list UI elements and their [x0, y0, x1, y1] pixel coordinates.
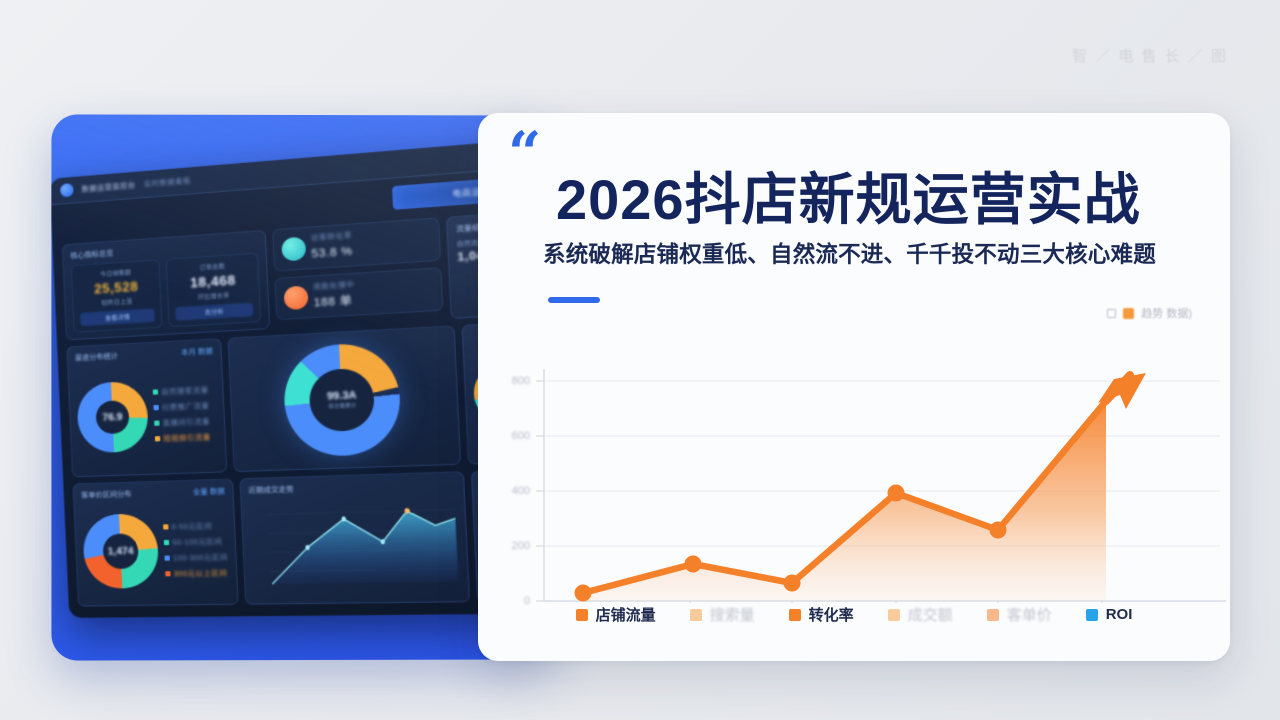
legend-item-3[interactable]: 成交额 — [888, 604, 953, 625]
trend-area-panel: 近期成交走势 — [239, 471, 470, 605]
legend-item-4[interactable]: 客单价 — [987, 604, 1052, 625]
health-score-panel: 99.3A 综合健康分 — [227, 325, 461, 472]
kpi-analyze-button[interactable]: 去分析 — [176, 303, 254, 321]
main-chart: 800 600 400 200 0 — [478, 343, 1230, 603]
metric-pill: 退款处理中 188 单 — [274, 267, 443, 320]
page-watermark: 智 ／ 电 售 长 ／ 图 — [1072, 45, 1228, 66]
legend-label: 店铺流量 — [596, 604, 656, 625]
chart-tag-label: 趋势 数据) — [1141, 305, 1192, 321]
legend-label: 搜索量 — [710, 604, 755, 625]
price-donut-panel: 客单价区间分布 全量 数据 1,474 0-50元区间 50-100元区间 10… — [72, 478, 238, 606]
metric-pill: 访客转化率 53.8 % — [272, 217, 441, 271]
dashboard-brand: 数据运营监控台 — [81, 180, 135, 195]
orange-dot-icon — [283, 285, 308, 310]
kpi-panel: 核心指标总览 今日销售额 25,528 较昨日上涨 查看详情 订单总数 18,4… — [62, 230, 270, 341]
legend-item-5[interactable]: ROI — [1086, 606, 1133, 623]
legend-item-2[interactable]: 转化率 — [789, 604, 854, 625]
legend-swatch — [576, 609, 588, 621]
legend-swatch — [987, 609, 999, 621]
cyan-dot-icon — [281, 237, 306, 262]
legend-label: 成交额 — [908, 604, 953, 625]
mini-area-chart — [249, 494, 461, 593]
kpi-card: 订单总数 18,468 环比增长率 去分析 — [166, 253, 261, 328]
donut-chart: 76.9 — [76, 381, 149, 454]
quote-mark-icon: “ — [508, 133, 541, 174]
chart-canvas — [478, 343, 1230, 603]
accent-divider — [548, 297, 600, 303]
chart-legend-tag: 趋势 数据) — [1107, 305, 1192, 321]
hero-card: “ 2026抖店新规运营实战 系统破解店铺权重低、自然流不进、千千投不动三大核心… — [478, 113, 1230, 661]
dashboard-nav: 实时数据看板 — [144, 175, 192, 189]
legend-label: 转化率 — [809, 604, 854, 625]
chart-tag-swatch — [1123, 308, 1134, 319]
donut-legend: 自然搜索流量 付费推广流量 直播间引流量 短视频引流量 — [153, 384, 211, 444]
donut-chart-main: 99.3A 综合健康分 — [282, 341, 402, 457]
chart-legend: 店铺流量 搜索量 转化率 成交额 客单价 ROI — [478, 604, 1230, 625]
page-title: 2026抖店新规运营实战 — [556, 155, 1141, 236]
legend-item-1[interactable]: 搜索量 — [690, 604, 755, 625]
legend-label: ROI — [1106, 606, 1133, 623]
chart-square-icon — [1107, 309, 1116, 318]
kpi-card: 今日销售额 25,528 较昨日上涨 查看详情 — [71, 259, 163, 333]
channel-donut-panel: 渠道分布统计 本月 数据 76.9 自然搜索流量 付费推广流量 直播间引流量 短… — [66, 338, 227, 477]
legend-item-0[interactable]: 店铺流量 — [576, 604, 656, 625]
donut-chart: 1,474 — [82, 513, 160, 589]
legend-swatch — [789, 609, 801, 621]
legend-label: 客单价 — [1007, 604, 1052, 625]
legend-swatch — [1086, 609, 1098, 621]
page-subtitle: 系统破解店铺权重低、自然流不进、千千投不动三大核心难题 — [543, 237, 1156, 269]
legend-swatch — [888, 609, 900, 621]
legend-swatch — [690, 609, 702, 621]
circle-logo-icon — [60, 183, 74, 197]
kpi-detail-button[interactable]: 查看详情 — [80, 308, 155, 326]
